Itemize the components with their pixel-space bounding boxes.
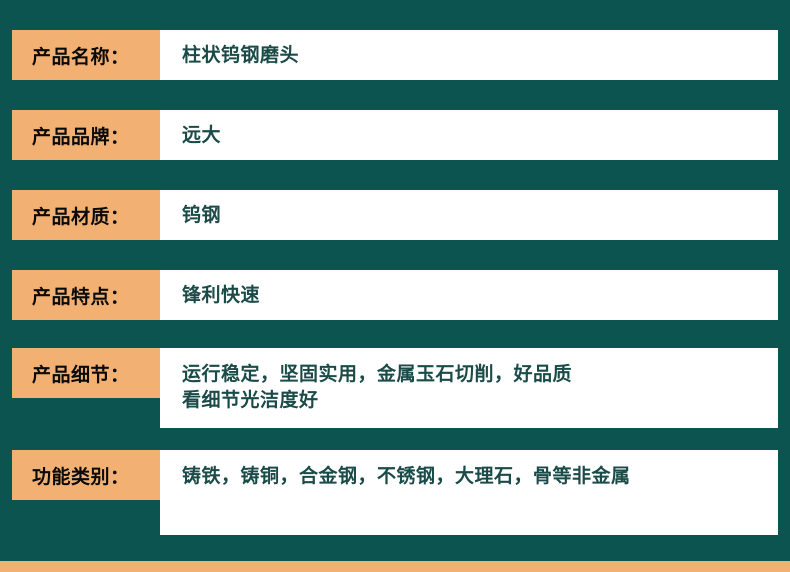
spec-label-text: 功能类别： [32, 462, 130, 489]
spec-label-text: 产品材质： [32, 202, 130, 229]
bottom-accent-bar [0, 561, 790, 572]
spec-value-cell: 运行稳定，坚固实用，金属玉石切削，好品质 看细节光洁度好 [160, 348, 778, 428]
spec-value-text: 柱状钨钢磨头 [182, 42, 299, 68]
spec-label-cell: 产品名称： [12, 30, 160, 80]
spec-value-text: 钨钢 [182, 202, 221, 228]
spec-value-cell: 钨钢 [160, 190, 778, 240]
spec-label-text: 产品名称： [32, 42, 130, 69]
product-spec-sheet: 产品名称： 柱状钨钢磨头 产品品牌： 远大 产品材质： 钨钢 产品特点： 锋利快… [0, 0, 790, 572]
spec-value-text: 锋利快速 [182, 282, 260, 308]
spec-row: 产品名称： 柱状钨钢磨头 [12, 30, 778, 80]
spec-label-cell: 产品特点： [12, 270, 160, 320]
spec-value-cell: 铸铁，铸铜，合金钢，不锈钢，大理石，骨等非金属 [160, 450, 778, 535]
spec-value-cell: 柱状钨钢磨头 [160, 30, 778, 80]
spec-label-cell: 功能类别： [12, 450, 160, 500]
spec-label-cell: 产品品牌： [12, 110, 160, 160]
spec-label-text: 产品特点： [32, 282, 130, 309]
spec-value-text: 铸铁，铸铜，合金钢，不锈钢，大理石，骨等非金属 [182, 463, 631, 489]
spec-value-cell: 锋利快速 [160, 270, 778, 320]
spec-value-cell: 远大 [160, 110, 778, 160]
spec-label-cell: 产品材质： [12, 190, 160, 240]
spec-row: 产品细节： 运行稳定，坚固实用，金属玉石切削，好品质 看细节光洁度好 [12, 348, 778, 428]
spec-label-text: 产品细节： [32, 360, 130, 387]
spec-value-text: 远大 [182, 122, 221, 148]
spec-label-text: 产品品牌： [32, 122, 130, 149]
spec-row: 产品材质： 钨钢 [12, 190, 778, 240]
spec-row: 产品特点： 锋利快速 [12, 270, 778, 320]
spec-label-cell: 产品细节： [12, 348, 160, 398]
spec-value-text: 运行稳定，坚固实用，金属玉石切削，好品质 看细节光洁度好 [182, 361, 572, 413]
spec-row: 功能类别： 铸铁，铸铜，合金钢，不锈钢，大理石，骨等非金属 [12, 450, 778, 535]
spec-row: 产品品牌： 远大 [12, 110, 778, 160]
